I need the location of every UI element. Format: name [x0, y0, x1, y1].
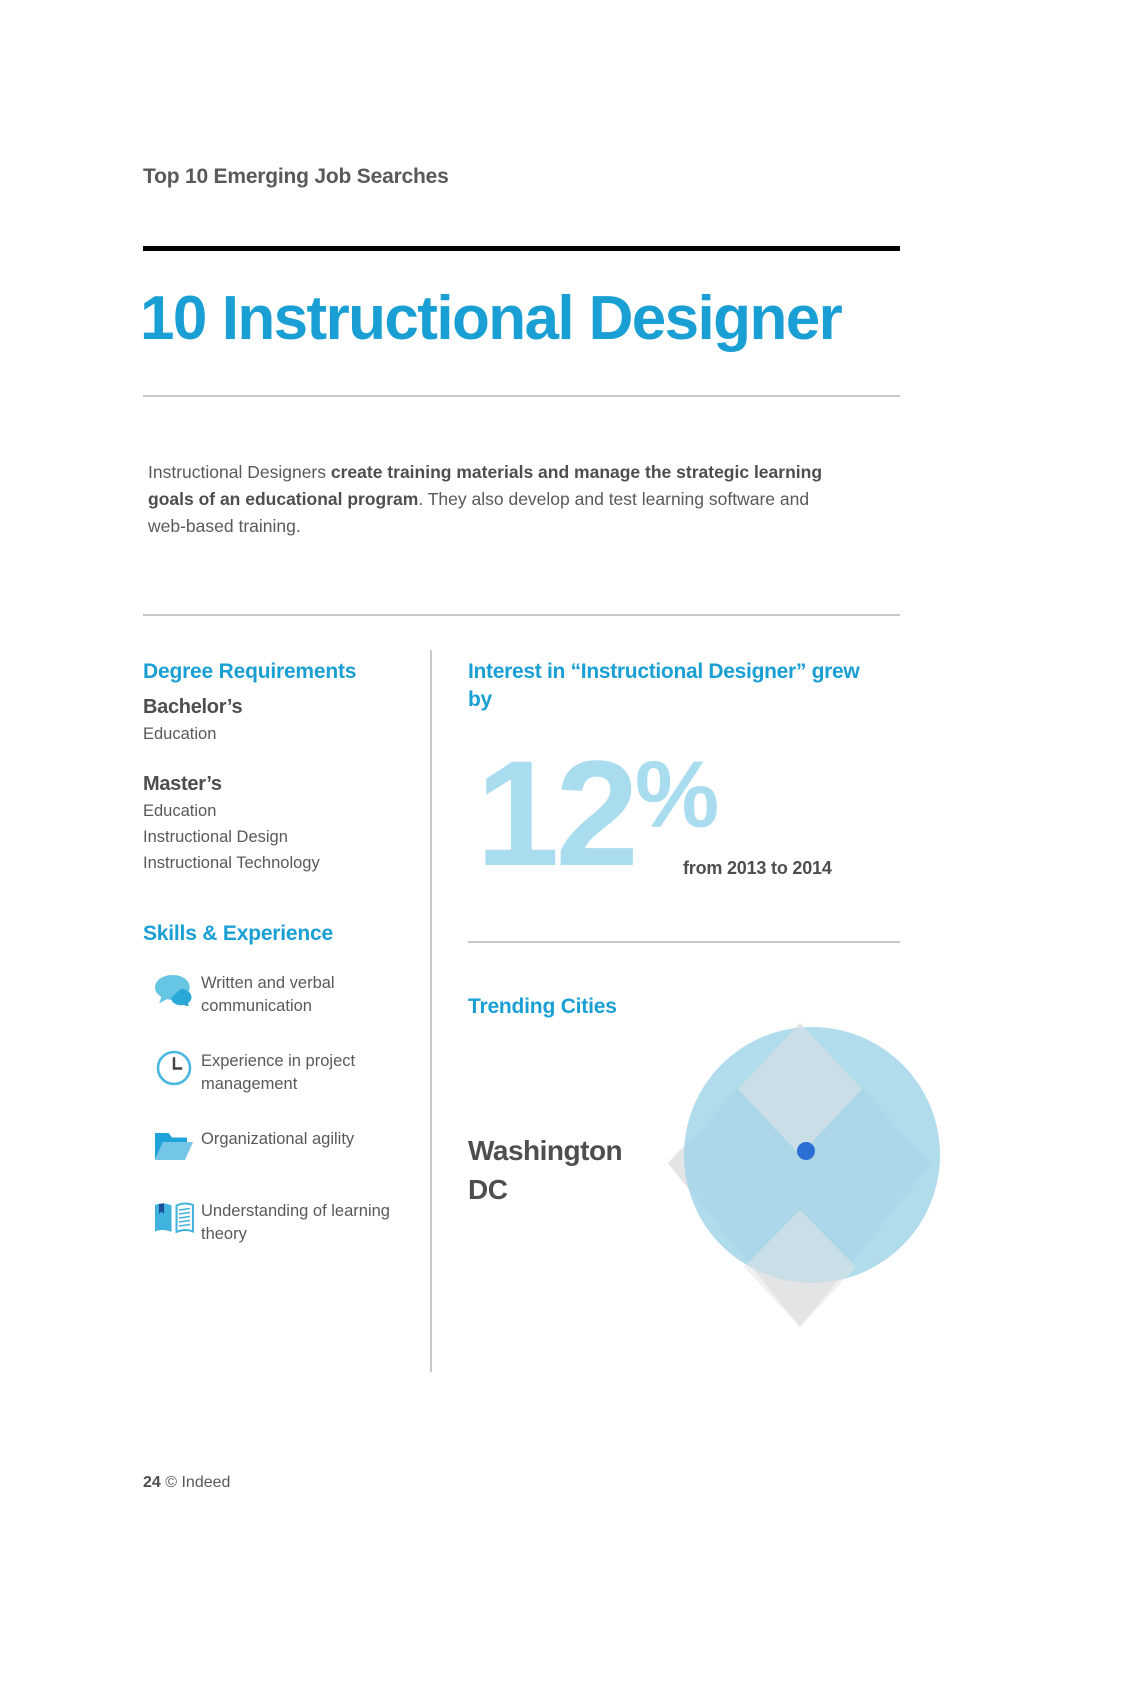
degree-block-masters: Master’s Education Instructional Design … — [143, 773, 413, 876]
divider-under-title — [143, 395, 900, 397]
growth-value: 12% — [476, 720, 717, 888]
job-title: Instructional Designer — [222, 284, 841, 353]
copyright: © Indeed — [165, 1474, 230, 1491]
growth-number: 12 — [476, 729, 635, 897]
clock-icon — [143, 1046, 201, 1090]
percent-symbol: % — [635, 742, 717, 848]
header-rule — [143, 246, 900, 251]
city-line-1: Washington — [468, 1131, 648, 1170]
washington-dc-map — [650, 1005, 950, 1345]
growth-stat: 12% — [468, 728, 908, 878]
page-kicker: Top 10 Emerging Job Searches — [143, 165, 449, 189]
skill-label: Experience in project management — [201, 1046, 413, 1096]
degree-field: Education — [143, 798, 413, 824]
folder-icon — [143, 1124, 201, 1168]
page-number: 24 — [143, 1474, 161, 1491]
open-book-icon — [143, 1196, 201, 1240]
skill-label: Understanding of learning theory — [201, 1196, 413, 1246]
degree-field: Education — [143, 721, 413, 747]
divider-under-description — [143, 614, 900, 616]
degree-field: Instructional Technology — [143, 850, 413, 876]
trending-cities-heading: Trending Cities — [468, 995, 617, 1019]
job-description: Instructional Designers create training … — [148, 459, 838, 540]
degree-requirements-heading: Degree Requirements — [143, 658, 413, 686]
skill-label: Written and verbal communication — [201, 968, 413, 1018]
list-item: Experience in project management — [143, 1046, 413, 1096]
degree-level-name: Bachelor’s — [143, 696, 413, 719]
rank-number: 10 — [140, 284, 206, 353]
column-divider — [430, 650, 432, 1372]
degree-block-bachelors: Bachelor’s Education — [143, 696, 413, 747]
speech-bubbles-icon — [143, 968, 201, 1012]
growth-caption: from 2013 to 2014 — [683, 858, 832, 879]
infographic-page: Top 10 Emerging Job Searches 10Instructi… — [0, 0, 1134, 1706]
right-column: Interest in “Instructional Designer” gre… — [468, 658, 908, 878]
page-title: 10Instructional Designer — [140, 283, 841, 354]
degree-field: Instructional Design — [143, 824, 413, 850]
divider-above-trending — [468, 941, 900, 943]
city-line-2: DC — [468, 1170, 648, 1209]
list-item: Written and verbal communication — [143, 968, 413, 1018]
list-item: Organizational agility — [143, 1124, 413, 1168]
skills-experience-heading: Skills & Experience — [143, 920, 413, 948]
interest-growth-heading: Interest in “Instructional Designer” gre… — [468, 658, 868, 714]
description-lead: Instructional Designers — [148, 462, 331, 482]
list-item: Understanding of learning theory — [143, 1196, 413, 1246]
page-footer: 24 © Indeed — [143, 1474, 230, 1492]
trending-city-name: Washington DC — [468, 1131, 648, 1209]
skill-label: Organizational agility — [201, 1124, 354, 1151]
left-column: Degree Requirements Bachelor’s Education… — [143, 658, 413, 1274]
degree-level-name: Master’s — [143, 773, 413, 796]
